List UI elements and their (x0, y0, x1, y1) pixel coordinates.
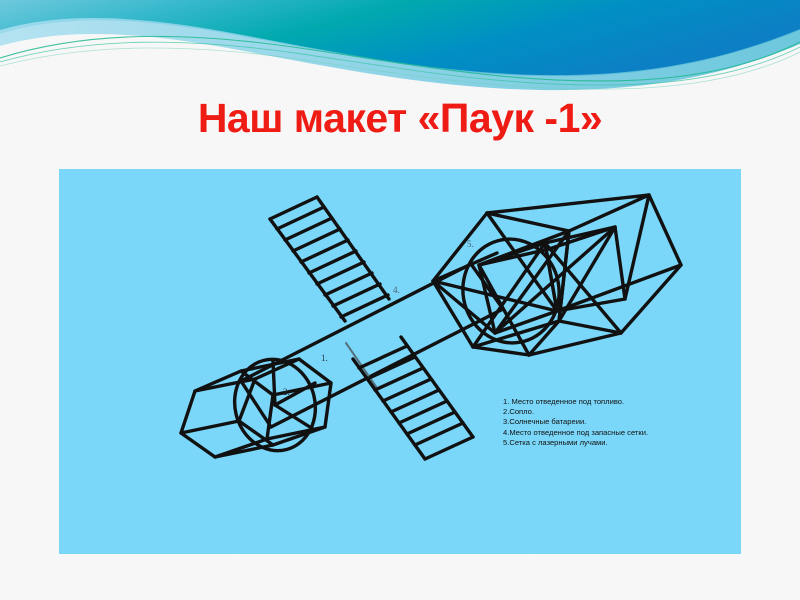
slide-canvas: Наш макет «Паук -1» (0, 0, 800, 600)
spacecraft-drawing: 1. 2. 4. 5. (59, 169, 741, 554)
spacecraft-picture: 1. 2. 4. 5. 1. Место отведенное под топл… (59, 169, 741, 554)
wave-accent-line-2 (0, 42, 800, 85)
legend-line-5: 5.Сетка с лазерными лучами. (503, 438, 741, 448)
wave-accent-line-1 (0, 36, 800, 81)
diagram-legend: 1. Место отведенное под топливо. 2.Сопло… (503, 397, 741, 448)
wave-accent-line-3 (0, 48, 800, 89)
callout-5: 5. (467, 239, 474, 249)
legend-line-3: 3.Солнечные батареии. (503, 417, 741, 427)
solar-panel-lower (353, 337, 473, 459)
legend-line-2: 2.Сопло. (503, 407, 741, 417)
callout-1: 1. (321, 353, 328, 363)
solar-panel-upper (270, 197, 389, 321)
callout-2: 2. (283, 387, 290, 397)
legend-line-4: 4.Место отведенное под запасные сетки. (503, 428, 741, 438)
laser-net-module (433, 195, 681, 355)
wave-primary-band (0, 0, 800, 76)
wave-pale-band (0, 18, 800, 90)
header-wave-decoration (0, 0, 800, 95)
callout-4: 4. (393, 285, 400, 295)
slide-title: Наш макет «Паук -1» (0, 92, 800, 144)
legend-line-1: 1. Место отведенное под топливо. (503, 397, 741, 407)
